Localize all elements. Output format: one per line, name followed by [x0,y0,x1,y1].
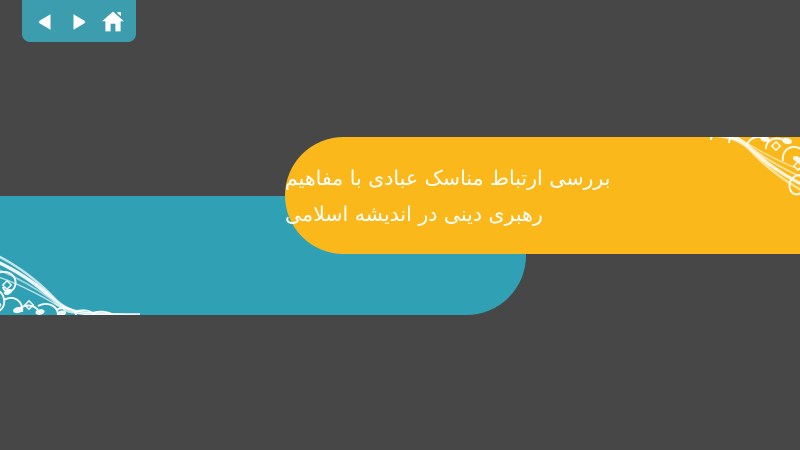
title-line-1: بررسی ارتباط مناسک عبادی با مفاهیم [285,160,610,196]
back-button[interactable] [32,9,58,35]
slide-canvas: بررسی ارتباط مناسک عبادی با مفاهیم رهبری… [0,0,800,450]
navigation-bar [22,0,136,42]
islamic-arabesque-ornament-teal [0,196,140,315]
triangle-left-icon [34,11,56,33]
home-button[interactable] [100,9,126,35]
home-icon [101,10,125,34]
triangle-right-icon [68,11,90,33]
slide-title: بررسی ارتباط مناسک عبادی با مفاهیم رهبری… [285,137,800,254]
title-line-2: رهبری دینی در اندیشه اسلامی [285,196,557,232]
forward-button[interactable] [66,9,92,35]
